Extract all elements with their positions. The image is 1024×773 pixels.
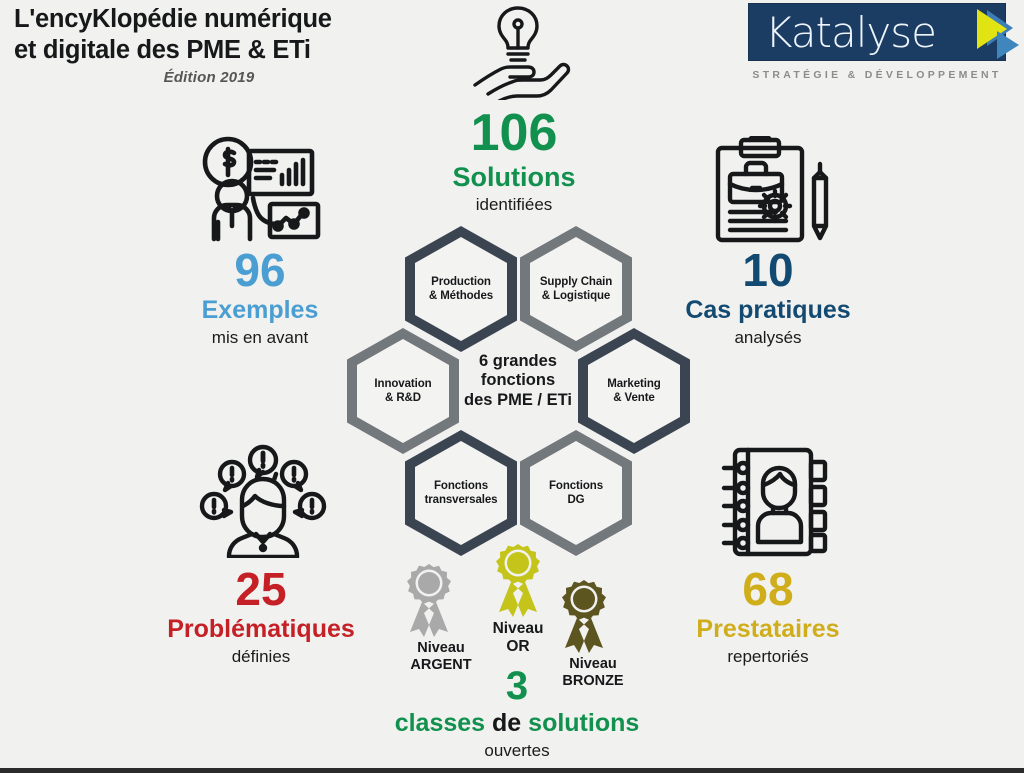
stat-cas-pratiques: 10 Cas pratiques analysés bbox=[660, 247, 876, 348]
stat-prestataires: 68 Prestataires repertoriés bbox=[660, 566, 876, 667]
katalyse-logo: Katalyse STRATÉGIE & DÉVELOPPEMENT bbox=[748, 3, 1006, 81]
hex-line1: Marketing bbox=[607, 378, 660, 390]
page-title-line1: L'encyKlopédie numérique bbox=[14, 4, 434, 35]
hexagon-cluster: Production & Méthodes Supply Chain & Log… bbox=[340, 222, 690, 542]
infographic-canvas: L'encyKlopédie numérique et digitale des… bbox=[0, 0, 1024, 773]
hex-line1: Production bbox=[431, 276, 491, 288]
hexagon-production-label: Production & Méthodes bbox=[429, 275, 493, 304]
medal-or: Niveau OR bbox=[487, 542, 549, 656]
medal-argent: Niveau ARGENT bbox=[398, 562, 484, 673]
stat-prestataires-sub: repertoriés bbox=[660, 648, 876, 667]
hexagon-inner: Marketing & Vente bbox=[588, 339, 680, 443]
edition-label: Édition 2019 bbox=[14, 69, 434, 86]
hex-line1: Innovation bbox=[374, 378, 431, 390]
stat-solutions-label: Solutions bbox=[404, 163, 624, 191]
hexagon-inner: Fonctions transversales bbox=[415, 441, 507, 545]
bottom-strip bbox=[0, 768, 1024, 773]
stat-problematiques: 25 Problématiques définies bbox=[150, 566, 372, 667]
medal-line1: Niveau bbox=[417, 640, 465, 656]
hexagon-fonctions-transversales[interactable]: Fonctions transversales bbox=[405, 430, 517, 556]
hex-line1: Supply Chain bbox=[540, 276, 612, 288]
stat-problematiques-sub: définies bbox=[150, 648, 372, 667]
hexagon-inner: Innovation & R&D bbox=[357, 339, 449, 443]
stat-classes-label: classes de solutions bbox=[372, 709, 662, 738]
hexagon-fonctions-dg[interactable]: Fonctions DG bbox=[520, 430, 632, 556]
stat-classes-number: 3 bbox=[372, 666, 662, 706]
stat-solutions-sub: identifiées bbox=[404, 196, 624, 215]
classes-de-word: de bbox=[492, 709, 521, 737]
hexagon-dg-label: Fonctions DG bbox=[549, 479, 603, 508]
stat-solutions-number: 106 bbox=[404, 107, 624, 159]
stat-exemples-sub: mis en avant bbox=[152, 329, 368, 348]
hex-line2: & Méthodes bbox=[429, 290, 493, 302]
page-title-line2: et digitale des PME & ETi bbox=[14, 35, 434, 66]
classes-word: classes bbox=[395, 709, 492, 737]
title-block: L'encyKlopédie numérique et digitale des… bbox=[14, 4, 434, 86]
hexagon-marketing-label: Marketing & Vente bbox=[607, 377, 660, 406]
stat-prestataires-number: 68 bbox=[660, 566, 876, 612]
medal-or-label: Niveau OR bbox=[487, 620, 549, 656]
arrow-blue-front-icon bbox=[997, 31, 1019, 59]
lightbulb-in-hand-icon bbox=[462, 2, 574, 100]
hexagon-supply-chain-logistique[interactable]: Supply Chain & Logistique bbox=[520, 226, 632, 352]
stat-cas-pratiques-sub: analysés bbox=[660, 329, 876, 348]
hex-line1: Fonctions bbox=[549, 480, 603, 492]
logo-wordmark: Katalyse bbox=[765, 7, 936, 59]
medal-line2: OR bbox=[506, 638, 529, 655]
hex-line2: & Vente bbox=[613, 392, 654, 404]
stat-classes-de-solutions: 3 classes de solutions ouvertes bbox=[372, 666, 662, 761]
spiral-address-book-person-icon bbox=[710, 444, 836, 560]
hex-line2: DG bbox=[567, 494, 584, 506]
stat-problematiques-number: 25 bbox=[150, 566, 372, 612]
stat-cas-pratiques-label: Cas pratiques bbox=[660, 297, 876, 323]
business-presentation-chart-icon bbox=[196, 136, 332, 242]
hexagon-transversales-label: Fonctions transversales bbox=[425, 479, 498, 508]
medal-line1: Niveau bbox=[493, 620, 544, 637]
stat-solutions: 106 Solutions identifiées bbox=[404, 107, 624, 215]
classes-solutions-word: solutions bbox=[521, 709, 639, 737]
hexagon-inner: Fonctions DG bbox=[530, 441, 622, 545]
medal-silver-icon bbox=[398, 562, 460, 638]
hexagon-production-methodes[interactable]: Production & Méthodes bbox=[405, 226, 517, 352]
hexagon-supply-label: Supply Chain & Logistique bbox=[540, 275, 612, 304]
stat-exemples-number: 96 bbox=[152, 247, 368, 293]
hex-line2: transversales bbox=[425, 494, 498, 506]
stat-cas-pratiques-number: 10 bbox=[660, 247, 876, 293]
hexagon-center-caption: 6 grandes fonctions des PME / ETi bbox=[458, 352, 578, 410]
hex-line1: Fonctions bbox=[434, 480, 488, 492]
stat-exemples: 96 Exemples mis en avant bbox=[152, 247, 368, 348]
logo-box: Katalyse bbox=[748, 3, 1006, 61]
medal-bronze-icon bbox=[553, 578, 615, 654]
stat-exemples-label: Exemples bbox=[152, 297, 368, 323]
clipboard-briefcase-gear-pencil-icon bbox=[708, 136, 838, 244]
center-line1: 6 grandes bbox=[479, 352, 557, 370]
hexagon-innovation-rd[interactable]: Innovation & R&D bbox=[347, 328, 459, 454]
center-line2: fonctions bbox=[481, 371, 555, 389]
hex-line2: & Logistique bbox=[542, 290, 610, 302]
hexagon-innovation-label: Innovation & R&D bbox=[374, 377, 431, 406]
stat-problematiques-label: Problématiques bbox=[150, 616, 372, 642]
logo-tagline: STRATÉGIE & DÉVELOPPEMENT bbox=[748, 69, 1006, 81]
stat-classes-sub: ouvertes bbox=[372, 742, 662, 761]
stat-prestataires-label: Prestataires bbox=[660, 616, 876, 642]
hex-line2: & R&D bbox=[385, 392, 421, 404]
hexagon-inner: Supply Chain & Logistique bbox=[530, 237, 622, 341]
hexagon-marketing-vente[interactable]: Marketing & Vente bbox=[578, 328, 690, 454]
hexagon-inner: Production & Méthodes bbox=[415, 237, 507, 341]
medal-gold-icon bbox=[487, 542, 549, 618]
center-line3: des PME / ETi bbox=[464, 391, 572, 409]
person-with-exclamation-bubbles-icon bbox=[198, 444, 328, 558]
